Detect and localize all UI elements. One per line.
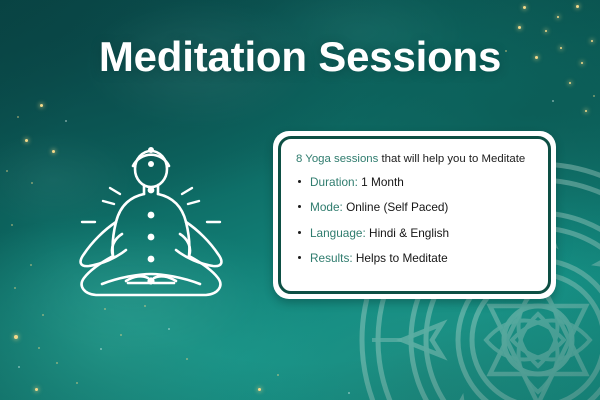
- bullet-value: Helps to Meditate: [353, 251, 448, 265]
- bullet-label: Language:: [310, 226, 366, 240]
- info-card: 8 Yoga sessions that will help you to Me…: [273, 131, 556, 299]
- lotus-meditation-figure-icon: [62, 138, 240, 308]
- list-item: Mode: Online (Self Paced): [296, 200, 534, 214]
- list-item: Duration: 1 Month: [296, 175, 534, 189]
- slide-canvas: Meditation Sessions: [0, 0, 600, 400]
- chakra-dots: [147, 147, 154, 285]
- bullet-label: Results:: [310, 251, 353, 265]
- list-item: Results: Helps to Meditate: [296, 251, 534, 265]
- card-lead-text: 8 Yoga sessions that will help you to Me…: [296, 152, 534, 166]
- card-lead-accent: 8 Yoga sessions: [296, 153, 378, 165]
- bullet-value: 1 Month: [358, 175, 404, 189]
- page-title: Meditation Sessions: [0, 33, 600, 80]
- info-card-inner: 8 Yoga sessions that will help you to Me…: [278, 136, 551, 294]
- bullet-value: Hindi & English: [366, 226, 449, 240]
- bullet-label: Mode:: [310, 200, 343, 214]
- card-lead-rest: that will help you to Meditate: [378, 153, 525, 165]
- bullet-label: Duration:: [310, 175, 358, 189]
- card-bullet-list: Duration: 1 Month Mode: Online (Self Pac…: [296, 175, 534, 265]
- bullet-value: Online (Self Paced): [343, 200, 449, 214]
- list-item: Language: Hindi & English: [296, 226, 534, 240]
